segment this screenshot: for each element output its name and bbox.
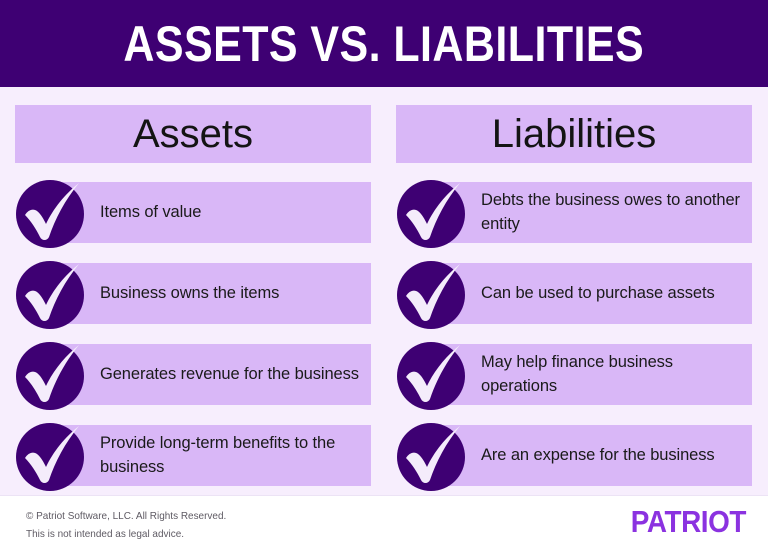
column-header-assets: Assets (15, 105, 371, 163)
list-item-label: Business owns the items (100, 282, 279, 305)
list-item: Debts the business owes to another entit… (396, 177, 752, 247)
list-item: Generates revenue for the business (15, 339, 371, 409)
copyright-text: © Patriot Software, LLC. All Rights Rese… (26, 507, 473, 525)
list-item-label: Provide long-term benefits to the busine… (100, 432, 363, 479)
list-item-bar: Business owns the items (53, 263, 371, 324)
footer: © Patriot Software, LLC. All Rights Rese… (0, 495, 768, 552)
list-item: Business owns the items (15, 258, 371, 328)
list-item-label: Can be used to purchase assets (481, 282, 715, 305)
column-header-liabilities: Liabilities (396, 105, 752, 163)
comparison-body: Assets Items of value (0, 87, 768, 495)
column-heading-label: Assets (133, 114, 253, 154)
list-item-label: May help finance business operations (481, 351, 744, 398)
list-item: May help finance business operations (396, 339, 752, 409)
list-item: Items of value (15, 177, 371, 247)
list-item-label: Items of value (100, 201, 201, 224)
list-item: Provide long-term benefits to the busine… (15, 420, 371, 490)
list-item-label: Generates revenue for the business (100, 363, 359, 386)
list-item-bar: Provide long-term benefits to the busine… (53, 425, 371, 486)
patriot-logo: PATRIOT (631, 506, 746, 537)
column-heading-label: Liabilities (492, 114, 657, 154)
infographic-canvas: ASSETS VS. LIABILITIES Assets Items of v… (0, 0, 768, 552)
list-item-bar: Generates revenue for the business (53, 344, 371, 405)
page-title: ASSETS VS. LIABILITIES (124, 19, 645, 69)
list-item-bar: Items of value (53, 182, 371, 243)
header-bar: ASSETS VS. LIABILITIES (0, 0, 768, 87)
list-item-label: Debts the business owes to another entit… (481, 189, 744, 236)
liabilities-list: Debts the business owes to another entit… (396, 177, 752, 501)
list-item-bar: Debts the business owes to another entit… (434, 182, 752, 243)
list-item-bar: Can be used to purchase assets (434, 263, 752, 324)
list-item: Can be used to purchase assets (396, 258, 752, 328)
list-item-label: Are an expense for the business (481, 444, 715, 467)
list-item-bar: May help finance business operations (434, 344, 752, 405)
list-item-bar: Are an expense for the business (434, 425, 752, 486)
disclaimer-text: This is not intended as legal advice. (26, 525, 473, 543)
assets-list: Items of value Business owns the items (15, 177, 371, 501)
footer-legal-text: © Patriot Software, LLC. All Rights Rese… (26, 507, 496, 544)
list-item: Are an expense for the business (396, 420, 752, 490)
